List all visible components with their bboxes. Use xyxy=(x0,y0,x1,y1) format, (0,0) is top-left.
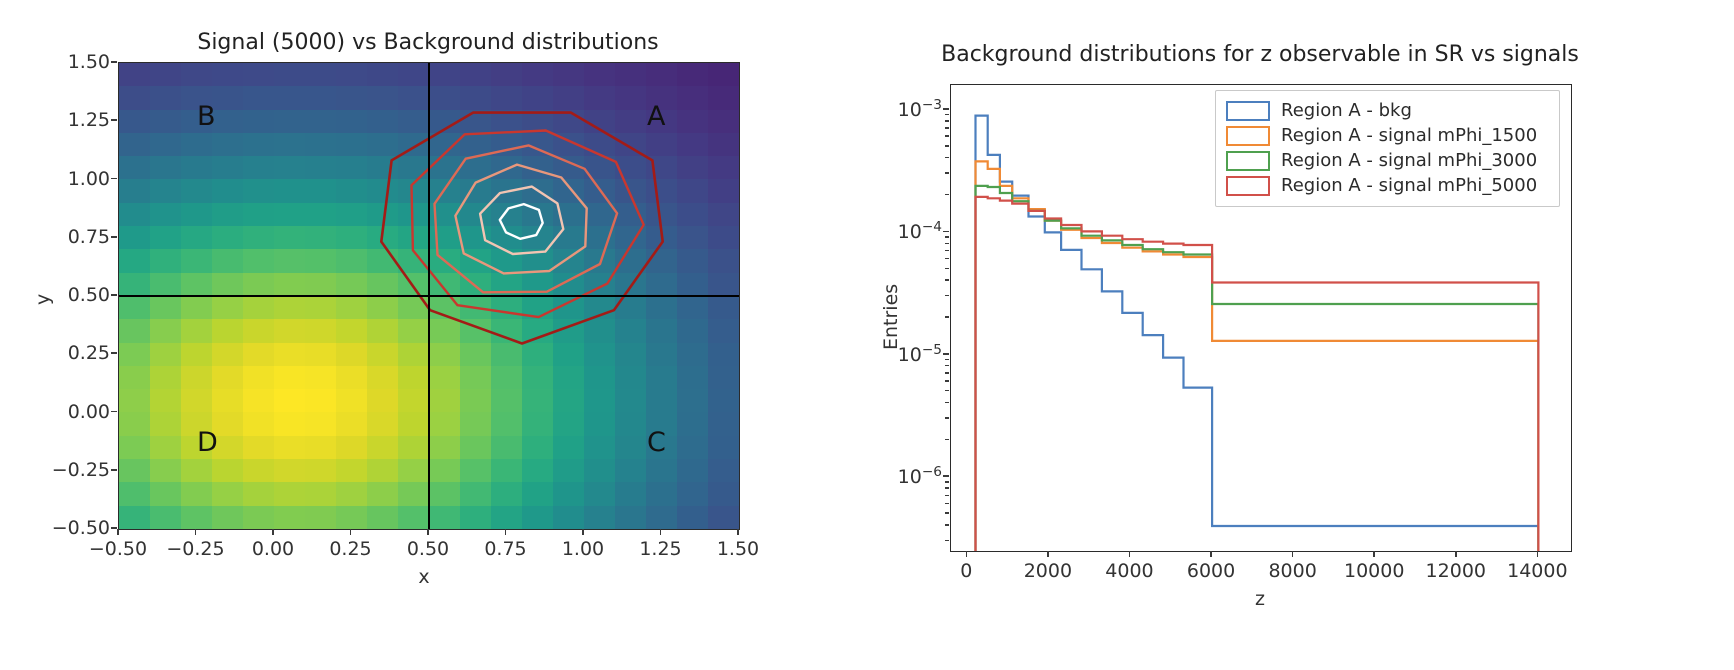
right-x-tickmark-3 xyxy=(1210,551,1212,557)
right-y-minor-tickmark xyxy=(945,243,949,244)
right-y-minor-tickmark xyxy=(945,316,949,317)
quadrant-label-b: B xyxy=(197,101,216,132)
quadrant-label-a: A xyxy=(647,101,665,132)
right-y-minor-tickmark xyxy=(945,481,949,482)
left-x-tick-8: 1.50 xyxy=(717,538,759,560)
right-panel-title: Background distributions for z observabl… xyxy=(941,42,1579,67)
right-y-minor-tickmark xyxy=(945,402,949,403)
contour-level-3 xyxy=(455,165,586,274)
left-y-tick-2: 1.00 xyxy=(46,168,110,190)
right-y-minor-tickmark xyxy=(945,512,949,513)
left-y-tickmark-3 xyxy=(111,236,117,238)
right-y-minor-tickmark xyxy=(945,120,949,121)
left-x-tick-4: 0.50 xyxy=(407,538,449,560)
right-x-tick-7: 14000 xyxy=(1507,560,1567,582)
figure-canvas: Signal (5000) vs Background distribution… xyxy=(0,0,1734,670)
left-x-tickmark-4 xyxy=(427,529,429,535)
right-x-tickmark-6 xyxy=(1455,551,1457,557)
right-y-tickmark-0 xyxy=(943,108,949,110)
legend-item-2[interactable]: Region A - signal mPhi_3000 xyxy=(1226,148,1549,173)
right-y-minor-tickmark xyxy=(945,359,949,360)
left-y-tick-0: 1.50 xyxy=(46,51,110,73)
left-y-tickmark-7 xyxy=(111,469,117,471)
hist-series-2 xyxy=(976,186,1539,551)
right-y-minor-tickmark xyxy=(945,380,949,381)
right-x-tickmark-7 xyxy=(1537,551,1539,557)
right-y-minor-tickmark xyxy=(945,172,949,173)
right-x-axis-title: z xyxy=(1255,588,1265,610)
right-y-tick-0: 10−3 xyxy=(870,97,942,121)
left-y-tick-6: 0.00 xyxy=(46,401,110,423)
right-y-minor-tickmark xyxy=(945,127,949,128)
right-y-minor-tickmark xyxy=(945,417,949,418)
right-y-minor-tickmark xyxy=(945,135,949,136)
right-y-minor-tickmark xyxy=(945,540,949,541)
right-y-minor-tickmark xyxy=(945,524,949,525)
left-y-tick-8: −0.50 xyxy=(46,517,110,539)
right-y-minor-tickmark xyxy=(945,145,949,146)
right-y-minor-tickmark xyxy=(945,114,949,115)
left-x-tick-3: 0.25 xyxy=(329,538,371,560)
right-x-tickmark-0 xyxy=(966,551,968,557)
left-y-tick-4: 0.50 xyxy=(46,284,110,306)
right-y-minor-tickmark xyxy=(945,372,949,373)
right-x-tickmark-2 xyxy=(1129,551,1131,557)
right-y-minor-tickmark xyxy=(945,390,949,391)
right-y-minor-tickmark xyxy=(945,258,949,259)
right-x-tickmark-5 xyxy=(1373,551,1375,557)
left-y-tick-1: 1.25 xyxy=(46,109,110,131)
legend-swatch-icon xyxy=(1226,176,1270,196)
right-y-minor-tickmark xyxy=(945,194,949,195)
right-x-tick-4: 8000 xyxy=(1268,560,1316,582)
right-y-minor-tickmark xyxy=(945,268,949,269)
quadrant-label-d: D xyxy=(197,427,218,458)
left-x-tickmark-1 xyxy=(195,529,197,535)
left-y-tickmark-5 xyxy=(111,352,117,354)
legend-label: Region A - signal mPhi_3000 xyxy=(1281,150,1537,171)
right-y-tickmark-3 xyxy=(943,475,949,477)
legend-swatch-icon xyxy=(1226,151,1270,171)
left-y-tick-5: 0.25 xyxy=(46,342,110,364)
histogram-legend[interactable]: Region A - bkgRegion A - signal mPhi_150… xyxy=(1215,90,1560,207)
left-x-tickmark-2 xyxy=(272,529,274,535)
left-x-tickmark-0 xyxy=(117,529,119,535)
right-x-tick-3: 6000 xyxy=(1187,560,1235,582)
right-x-tick-2: 4000 xyxy=(1105,560,1153,582)
legend-label: Region A - signal mPhi_1500 xyxy=(1281,125,1537,146)
legend-swatch-icon xyxy=(1226,126,1270,146)
right-y-tickmark-1 xyxy=(943,231,949,233)
right-y-tick-2: 10−5 xyxy=(870,342,942,366)
left-x-axis-title: x xyxy=(418,566,429,588)
right-x-tick-6: 12000 xyxy=(1426,560,1486,582)
left-x-tick-6: 1.00 xyxy=(562,538,604,560)
right-y-minor-tickmark xyxy=(945,487,949,488)
left-y-tickmark-8 xyxy=(111,527,117,529)
left-x-tickmark-3 xyxy=(350,529,352,535)
right-y-minor-tickmark xyxy=(945,157,949,158)
left-y-tickmark-0 xyxy=(111,61,117,63)
left-x-tick-2: 0.00 xyxy=(252,538,294,560)
quadrant-label-c: C xyxy=(647,427,666,458)
legend-label: Region A - bkg xyxy=(1281,100,1412,121)
right-y-minor-tickmark xyxy=(945,279,949,280)
left-x-tickmark-8 xyxy=(737,529,739,535)
right-y-minor-tickmark xyxy=(945,439,949,440)
right-y-minor-tickmark xyxy=(945,503,949,504)
region-divider-horizontal xyxy=(119,295,739,297)
contour-level-5 xyxy=(500,204,543,239)
right-x-tick-5: 10000 xyxy=(1344,560,1404,582)
left-x-tickmark-6 xyxy=(582,529,584,535)
legend-label: Region A - signal mPhi_5000 xyxy=(1281,175,1537,196)
left-y-tickmark-4 xyxy=(111,294,117,296)
left-panel-title: Signal (5000) vs Background distribution… xyxy=(197,30,658,55)
right-y-minor-tickmark xyxy=(945,250,949,251)
right-y-minor-tickmark xyxy=(945,365,949,366)
left-axes-area: B A D C xyxy=(118,62,740,530)
hist-series-3 xyxy=(976,197,1539,551)
left-y-tick-7: −0.25 xyxy=(46,459,110,481)
left-y-tickmark-2 xyxy=(111,178,117,180)
contour-level-4 xyxy=(480,187,563,254)
right-y-minor-tickmark xyxy=(945,495,949,496)
right-y-minor-tickmark xyxy=(945,295,949,296)
right-y-minor-tickmark xyxy=(945,236,949,237)
right-x-tick-0: 0 xyxy=(960,560,972,582)
contour-level-1 xyxy=(412,131,644,318)
left-x-tick-7: 1.25 xyxy=(639,538,681,560)
right-y-tickmark-2 xyxy=(943,353,949,355)
right-y-axis-title: Entries xyxy=(880,284,902,350)
legend-item-0[interactable]: Region A - bkg xyxy=(1226,98,1549,123)
left-x-tickmark-7 xyxy=(660,529,662,535)
right-x-tick-1: 2000 xyxy=(1024,560,1072,582)
legend-item-3[interactable]: Region A - signal mPhi_5000 xyxy=(1226,173,1549,198)
left-x-tickmark-5 xyxy=(505,529,507,535)
left-y-tickmark-6 xyxy=(111,411,117,413)
right-x-tickmark-1 xyxy=(1047,551,1049,557)
left-y-tick-3: 0.75 xyxy=(46,226,110,248)
right-x-tickmark-4 xyxy=(1292,551,1294,557)
right-y-tick-3: 10−6 xyxy=(870,464,942,488)
legend-swatch-icon xyxy=(1226,101,1270,121)
left-y-tickmark-1 xyxy=(111,119,117,121)
left-x-tick-5: 0.75 xyxy=(484,538,526,560)
left-x-tick-0: −0.50 xyxy=(89,538,147,560)
legend-item-1[interactable]: Region A - signal mPhi_1500 xyxy=(1226,123,1549,148)
left-x-tick-1: −0.25 xyxy=(166,538,224,560)
right-y-tick-1: 10−4 xyxy=(870,219,942,243)
